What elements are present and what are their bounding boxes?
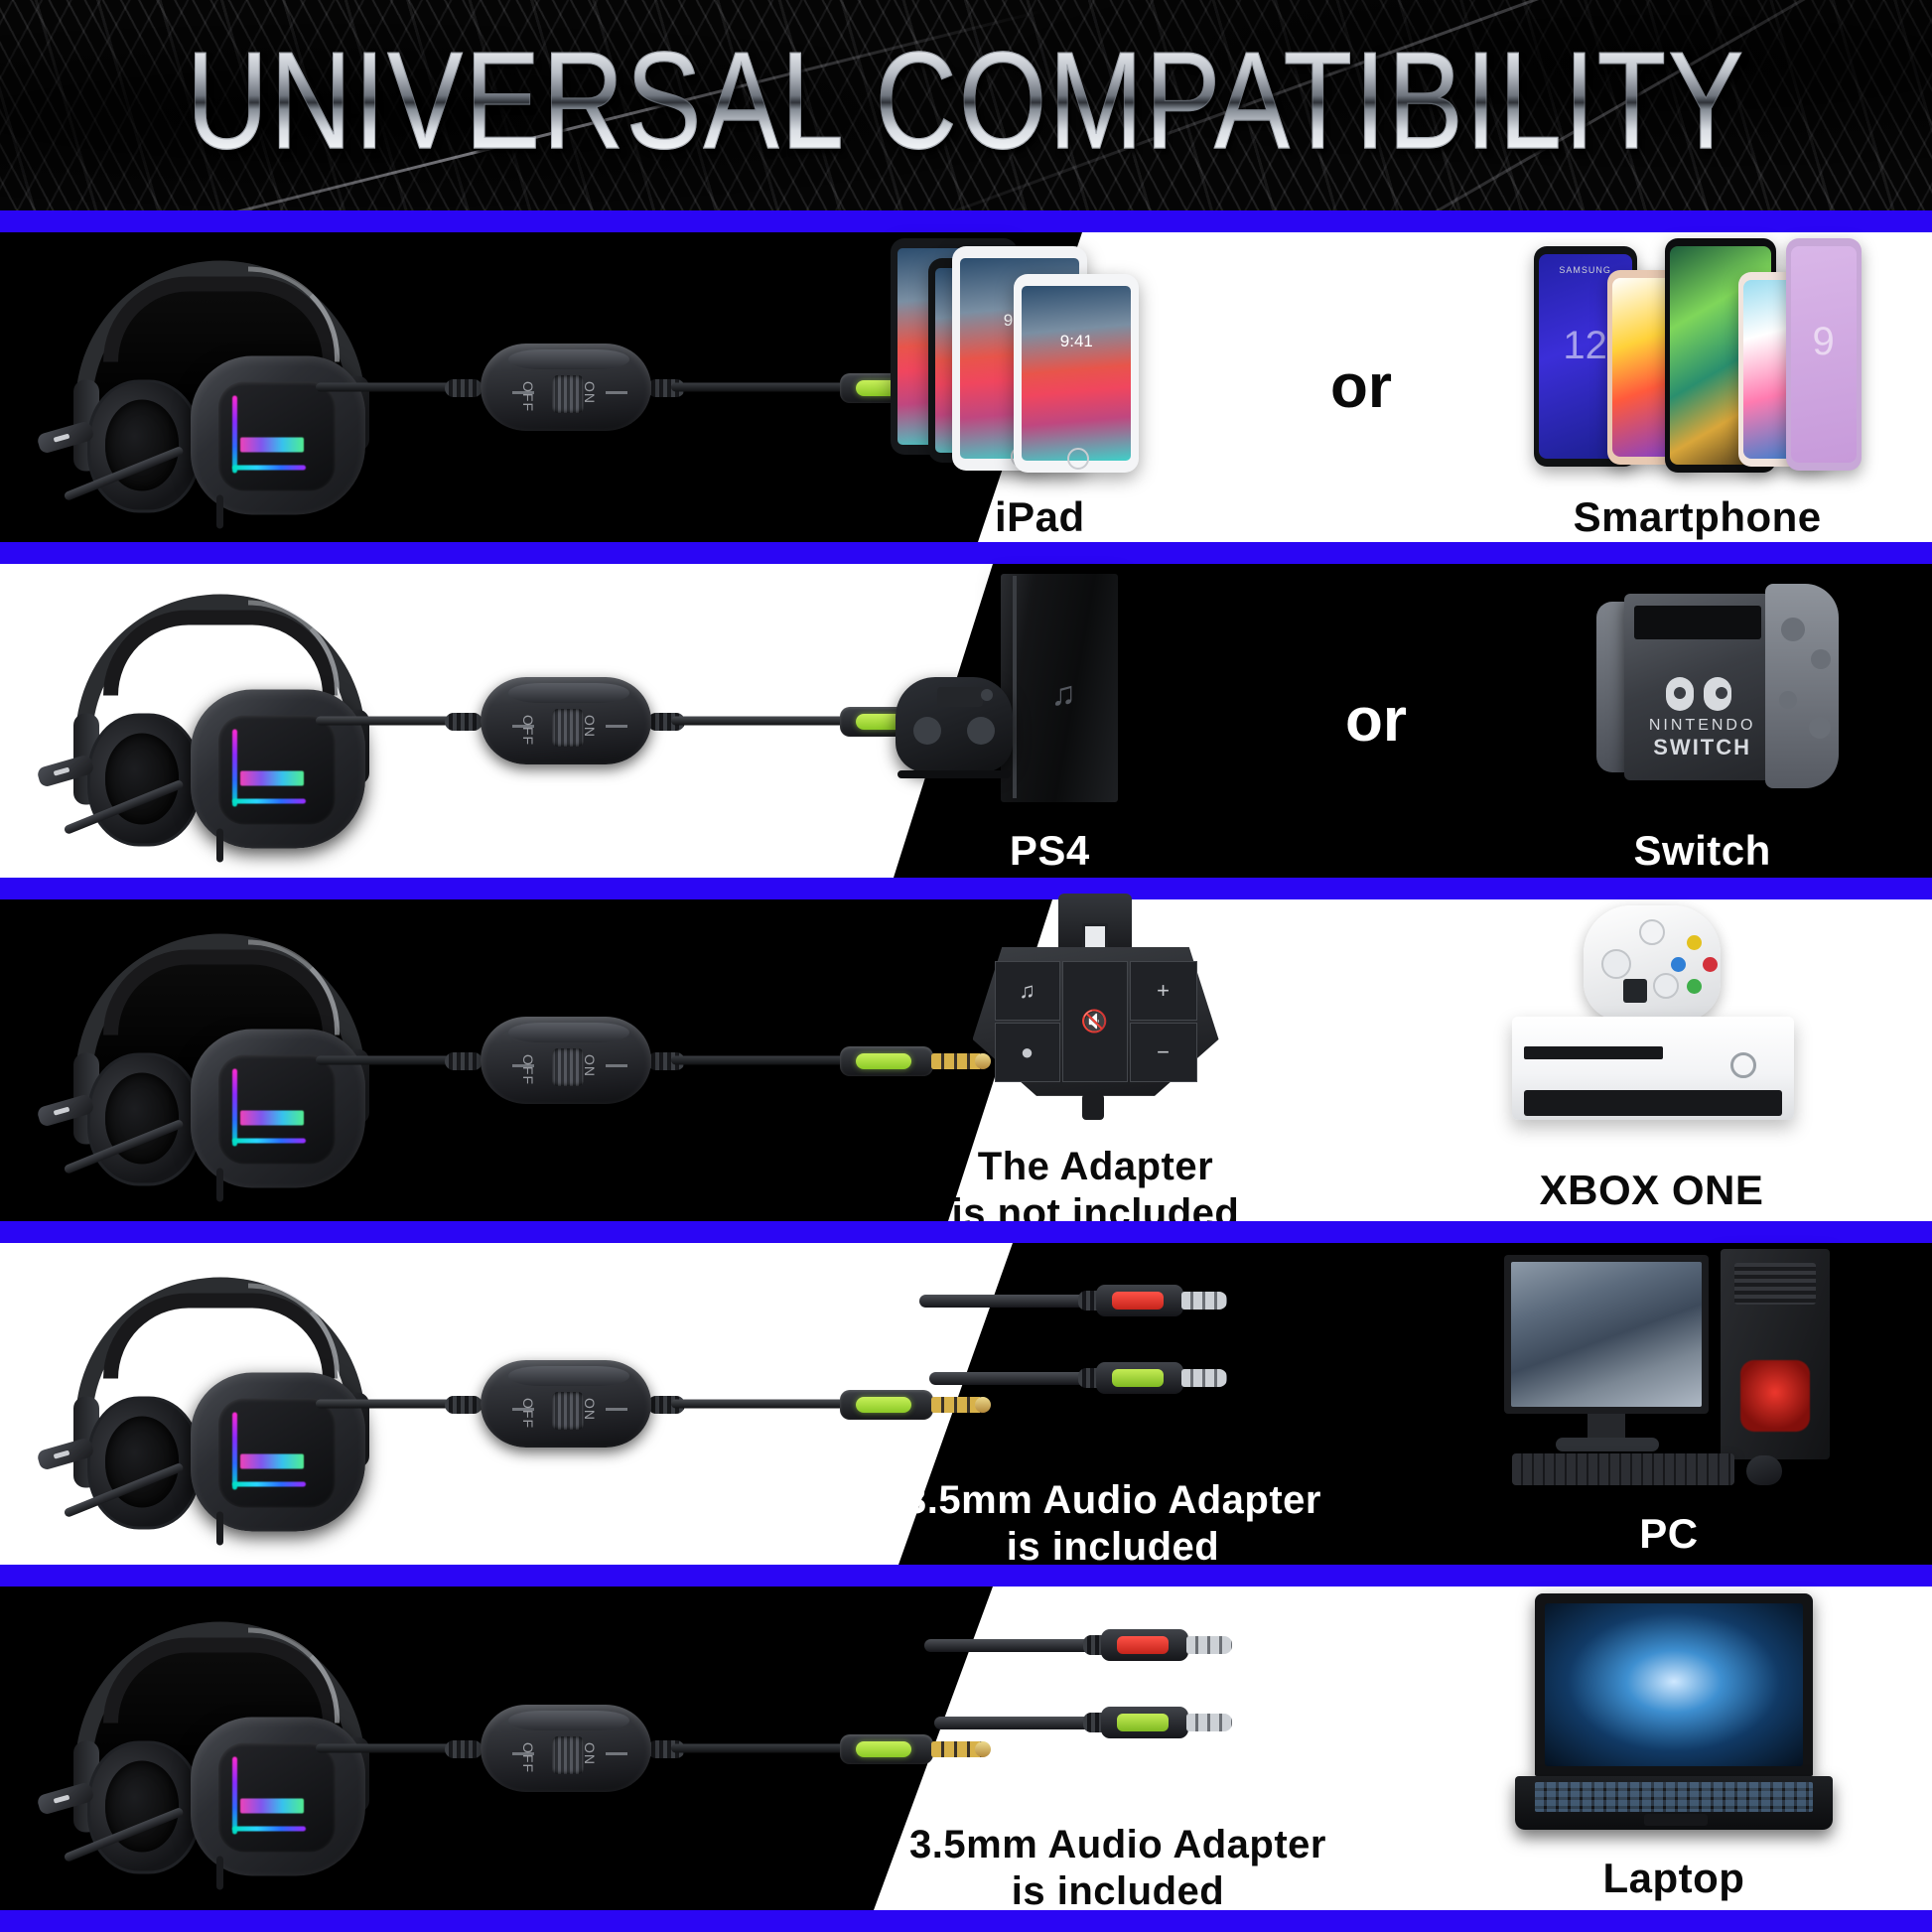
brand-logo	[240, 1799, 304, 1814]
headband-highlight	[248, 1284, 340, 1379]
headband-highlight	[248, 1628, 340, 1724]
device-audio-adapter-pc: 3.5mm Audio Adapter is included	[904, 1237, 1321, 1565]
device-smartphone: SAMSUNG12 9 Smartphone	[1534, 232, 1862, 542]
device-ipad: 9:41 9:41 iPad	[891, 232, 1188, 542]
cable-segment-left-2	[316, 717, 465, 726]
device-group-5: 3.5mm Audio Adapter is included Laptop	[820, 1587, 1932, 1910]
cable-sleeve-left	[445, 1396, 483, 1414]
ps4-controller	[896, 677, 1013, 772]
switch-screen-slot	[1634, 606, 1761, 639]
pc-tower	[1721, 1249, 1830, 1459]
xbox-controller	[1584, 905, 1721, 1021]
device-xbox-one: XBOX ONE	[1488, 905, 1816, 1215]
mic-on-label: ON	[582, 381, 598, 404]
rgb-light-horizontal	[232, 466, 306, 471]
page-title: UNIVERSAL COMPATIBILITY	[0, 16, 1932, 189]
phone-note-number: 9	[1791, 320, 1857, 364]
headband-highlight	[248, 601, 340, 696]
ps4-logo: ♫	[1050, 675, 1076, 714]
headset-cable-exit	[216, 829, 223, 863]
mic-on-label: ON	[582, 1742, 598, 1765]
audio-splitter-cable	[924, 1582, 1311, 1810]
or-connector-1: or	[1330, 356, 1392, 418]
laptop-screen	[1545, 1603, 1803, 1766]
rgb-light-vertical	[232, 1757, 237, 1835]
switch-logo-dot-left	[1674, 687, 1686, 699]
headband-highlight	[248, 940, 340, 1035]
row-adapter-xboxone: OFF ON	[0, 878, 1932, 1221]
device-label-switch: Switch	[1633, 826, 1770, 876]
device-group-4: 3.5mm Audio Adapter is included	[820, 1243, 1932, 1565]
control-tick-right	[606, 725, 627, 728]
inline-volume-control-2: OFF ON	[453, 669, 679, 772]
control-tick-right	[606, 1752, 627, 1755]
headset-cable-exit	[216, 495, 223, 529]
headset-cable-exit	[216, 1169, 223, 1202]
mic-off-label: OFF	[520, 715, 536, 746]
rgb-light-horizontal	[232, 799, 306, 804]
jack-pin	[1186, 1714, 1232, 1731]
control-tick-right	[606, 1064, 627, 1067]
mic-off-label: OFF	[520, 1742, 536, 1773]
row-audioadapter-laptop: OFF ON	[0, 1565, 1932, 1932]
mic-off-label: OFF	[520, 1398, 536, 1429]
smartphone-stack: SAMSUNG12 9	[1534, 232, 1862, 481]
cable-sleeve-left	[445, 1740, 483, 1758]
mic-mute-icon[interactable]: 🔇	[1062, 961, 1128, 1082]
volume-down-icon[interactable]: −	[1130, 1023, 1197, 1082]
control-ridge	[508, 1366, 629, 1386]
rgb-light-horizontal	[232, 1482, 306, 1487]
device-label-ps4: PS4	[1010, 826, 1090, 876]
tower-vent	[1734, 1263, 1816, 1305]
device-label-smartphone: Smartphone	[1574, 492, 1822, 542]
control-ridge	[508, 349, 629, 369]
mic-on-label: ON	[582, 1398, 598, 1421]
laptop-lid	[1535, 1593, 1813, 1776]
jack-mic-red	[1096, 1281, 1233, 1320]
mic-on-label: ON	[582, 1054, 598, 1077]
gaming-laptop-art	[1505, 1593, 1843, 1842]
ps4-stand	[897, 770, 1011, 778]
device-label-audio-adapter-2: 3.5mm Audio Adapter is included	[909, 1822, 1326, 1915]
mic-off-label: OFF	[520, 381, 536, 412]
device-ps4: ♫ PS4	[886, 566, 1213, 876]
ps4-console-art: ♫	[886, 566, 1213, 814]
device-label-adapter: The Adapter is not included	[952, 1144, 1240, 1221]
chat-balance-icon[interactable]: ●	[995, 1023, 1060, 1082]
jack-mic-red	[1101, 1625, 1238, 1665]
jack-pin	[1181, 1292, 1227, 1310]
device-audio-adapter-laptop: 3.5mm Audio Adapter is included	[909, 1582, 1326, 1915]
xbox-logo-icon	[1730, 1052, 1756, 1078]
jack-red-band	[1117, 1636, 1169, 1654]
volume-wheel[interactable]	[552, 1392, 584, 1430]
control-ridge	[508, 683, 629, 703]
control-tick-right	[606, 1408, 627, 1411]
brand-logo	[240, 438, 304, 453]
jack-audio-green	[1101, 1703, 1238, 1742]
xbox-stereo-adapter: ♫ 🔇 + ● −	[937, 884, 1255, 1132]
switch-console-art: NINTENDO SWITCH	[1539, 566, 1866, 814]
jack-red-band	[1112, 1292, 1164, 1310]
mic-on-label: ON	[582, 715, 598, 738]
jack-pin	[1186, 1636, 1232, 1654]
volume-up-icon[interactable]: +	[1130, 961, 1197, 1021]
device-group-3: ♫ 🔇 + ● − The Adapter is not included	[820, 899, 1932, 1221]
volume-wheel[interactable]	[552, 709, 584, 747]
device-laptop: Laptop	[1505, 1593, 1843, 1903]
device-xbox-adapter: ♫ 🔇 + ● − The Adapter is not included	[937, 884, 1255, 1221]
cable-sleeve-left	[445, 713, 483, 731]
device-switch: NINTENDO SWITCH Switch	[1539, 566, 1866, 876]
cable-segment-left-5	[316, 1744, 465, 1753]
device-group-2: ♫ PS4 or	[820, 564, 1932, 878]
inline-volume-control-5: OFF ON	[453, 1697, 679, 1800]
adapter-buttons: ♫ 🔇 + ● −	[995, 961, 1197, 1082]
jack-audio-green	[1096, 1358, 1233, 1398]
pc-monitor	[1504, 1255, 1709, 1414]
cable-segment-left-1	[316, 383, 465, 392]
rgb-light-vertical	[232, 730, 237, 807]
device-label-xbox: XBOX ONE	[1540, 1166, 1764, 1215]
volume-wheel[interactable]	[552, 1736, 584, 1774]
divider-bar-top-1	[0, 210, 1932, 232]
monitor-stand-base	[1556, 1438, 1659, 1451]
rgb-light-vertical	[232, 1069, 237, 1147]
desktop-pc-art	[1490, 1249, 1848, 1497]
control-ridge	[508, 1023, 629, 1042]
inline-volume-control-3: OFF ON	[453, 1009, 679, 1112]
headset-cable-exit	[216, 1857, 223, 1890]
inline-volume-control-1: OFF ON	[453, 336, 679, 439]
device-label-ipad: iPad	[995, 492, 1085, 542]
xbox-front-bar	[1524, 1090, 1782, 1116]
device-label-audio-adapter: 3.5mm Audio Adapter is included	[904, 1477, 1321, 1565]
xbox-disc-slot	[1524, 1046, 1663, 1059]
headband-highlight	[248, 267, 340, 362]
pc-mouse	[1746, 1455, 1782, 1485]
rgb-light-horizontal	[232, 1139, 306, 1144]
rgb-light-vertical	[232, 396, 237, 474]
laptop-touchpad	[1644, 1814, 1708, 1826]
pc-monitor-screen	[1511, 1262, 1702, 1407]
brand-logo	[240, 1454, 304, 1469]
audio-splitter-cable	[919, 1237, 1307, 1465]
ipad-stack: 9:41 9:41	[891, 232, 1188, 481]
control-ridge	[508, 1711, 629, 1730]
inline-volume-control-4: OFF ON	[453, 1352, 679, 1455]
monitor-stand-neck	[1587, 1414, 1625, 1440]
jack-green-band	[1117, 1714, 1169, 1731]
cable-segment-left-4	[316, 1400, 465, 1409]
volume-wheel[interactable]	[552, 375, 584, 413]
ipad-white-small: 9:41	[1014, 274, 1139, 473]
divider-bar-top-2	[0, 542, 1932, 564]
device-label-pc: PC	[1639, 1509, 1698, 1559]
phone-note-lilac: 9	[1786, 238, 1862, 471]
jack-pin	[1181, 1369, 1227, 1387]
headset-cable-exit	[216, 1512, 223, 1546]
laptop-keyboard	[1535, 1782, 1813, 1812]
mic-off-label: OFF	[520, 1054, 536, 1085]
tower-red-glow	[1740, 1360, 1810, 1432]
volume-wheel[interactable]	[552, 1048, 584, 1086]
rgb-light-vertical	[232, 1413, 237, 1490]
device-group-1: 9:41 9:41 iPad or SAMSUNG12 9	[820, 232, 1932, 542]
adapter-output-jack	[1082, 1094, 1104, 1120]
switch-logo-dot-right	[1716, 687, 1727, 699]
cable-segment-left-3	[316, 1056, 465, 1065]
ps4-seam	[1013, 576, 1017, 798]
headset-volume-icon[interactable]: ♫	[995, 961, 1060, 1021]
device-pc: PC	[1490, 1249, 1848, 1559]
rgb-light-horizontal	[232, 1827, 306, 1832]
pc-keyboard	[1512, 1453, 1734, 1485]
xbox-one-art	[1488, 905, 1816, 1154]
row-ps4-switch: OFF ON ♫	[0, 542, 1932, 878]
row-ipad-smartphone: OFF ON 9:41	[0, 210, 1932, 542]
row-audioadapter-pc: OFF ON	[0, 1221, 1932, 1565]
or-connector-2: or	[1345, 690, 1407, 752]
ipad-clock-2: 9:41	[1022, 332, 1131, 351]
brand-logo	[240, 1111, 304, 1126]
infographic-page: UNIVERSAL COMPATIBILITY	[0, 0, 1932, 1932]
device-label-laptop: Laptop	[1603, 1854, 1745, 1903]
joycon-right-grip	[1765, 584, 1839, 788]
brand-logo	[240, 771, 304, 786]
cable-sleeve-left	[445, 1052, 483, 1070]
cable-sleeve-left	[445, 379, 483, 397]
header-banner: UNIVERSAL COMPATIBILITY	[0, 0, 1932, 210]
xbox-guide-button-icon	[1639, 919, 1665, 945]
control-tick-right	[606, 391, 627, 394]
ps4-touchpad	[937, 687, 983, 707]
switch-brand-nintendo: NINTENDO	[1649, 717, 1756, 734]
jack-green-band	[1112, 1369, 1164, 1387]
